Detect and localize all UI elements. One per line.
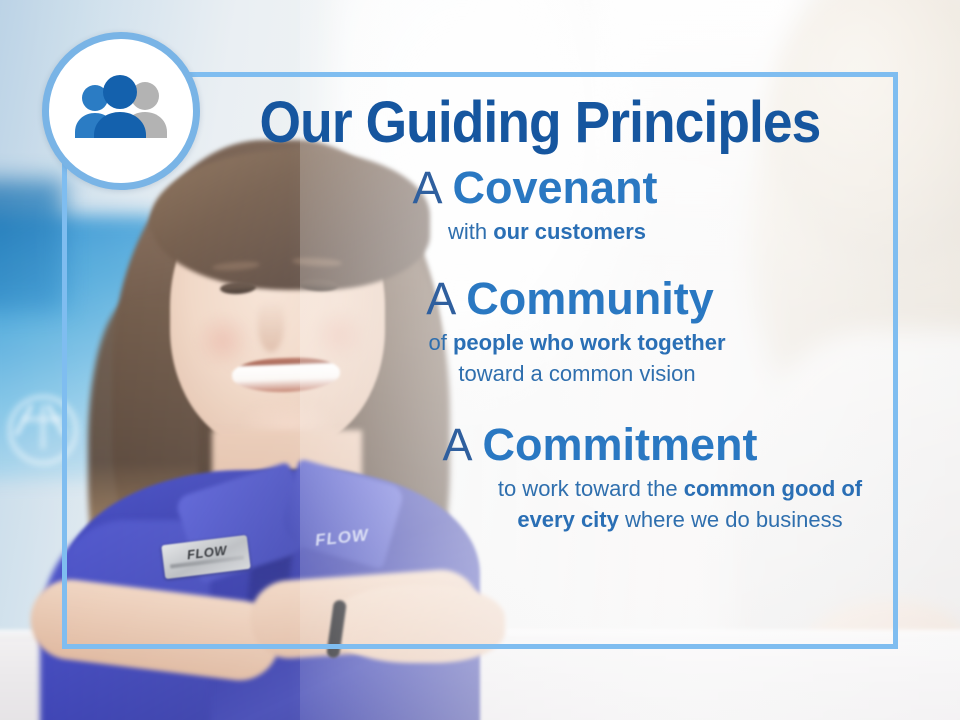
principle-covenant-subtitle-part-1: with (448, 219, 493, 244)
page-title: Our Guiding Principles (218, 92, 862, 154)
principle-covenant-subtitle: with our customers (204, 216, 890, 247)
principle-commitment-subtitle-part-3: where we do business (619, 507, 843, 532)
principle-covenant-heading: A Covenant (180, 162, 890, 214)
principle-community-subtitle-part-3: toward a common vision (458, 361, 695, 386)
principle-commitment: A Commitment to work toward the common g… (310, 419, 890, 535)
principle-commitment-subtitle-part-1: to work toward the (498, 476, 684, 501)
principle-commitment-heading: A Commitment (310, 419, 890, 471)
principle-community: A Community of people who work together … (250, 273, 890, 389)
principle-commitment-keyword: Commitment (483, 419, 758, 470)
principle-commitment-subtitle: to work toward the common good of every … (480, 473, 880, 535)
group-of-people-icon (69, 74, 173, 148)
principle-community-keyword: Community (466, 273, 714, 324)
principle-covenant: A Covenant with our customers (180, 162, 890, 247)
group-of-people-icon-badge (42, 32, 200, 190)
guiding-principles-graphic: FLOW FLOW Our Guiding Principle (0, 0, 960, 720)
principle-covenant-subtitle-part-2: our customers (493, 219, 646, 244)
principle-community-subtitle-part-1: of (428, 330, 452, 355)
principle-covenant-article: A (412, 162, 440, 213)
principle-community-article: A (426, 273, 454, 324)
principle-community-subtitle-part-2: people who work together (453, 330, 726, 355)
principle-community-subtitle: of people who work together toward a com… (264, 327, 890, 389)
principle-commitment-article: A (442, 419, 470, 470)
text-content: Our Guiding Principles A Covenant with o… (190, 80, 890, 640)
principle-covenant-keyword: Covenant (453, 162, 658, 213)
principle-community-heading: A Community (250, 273, 890, 325)
